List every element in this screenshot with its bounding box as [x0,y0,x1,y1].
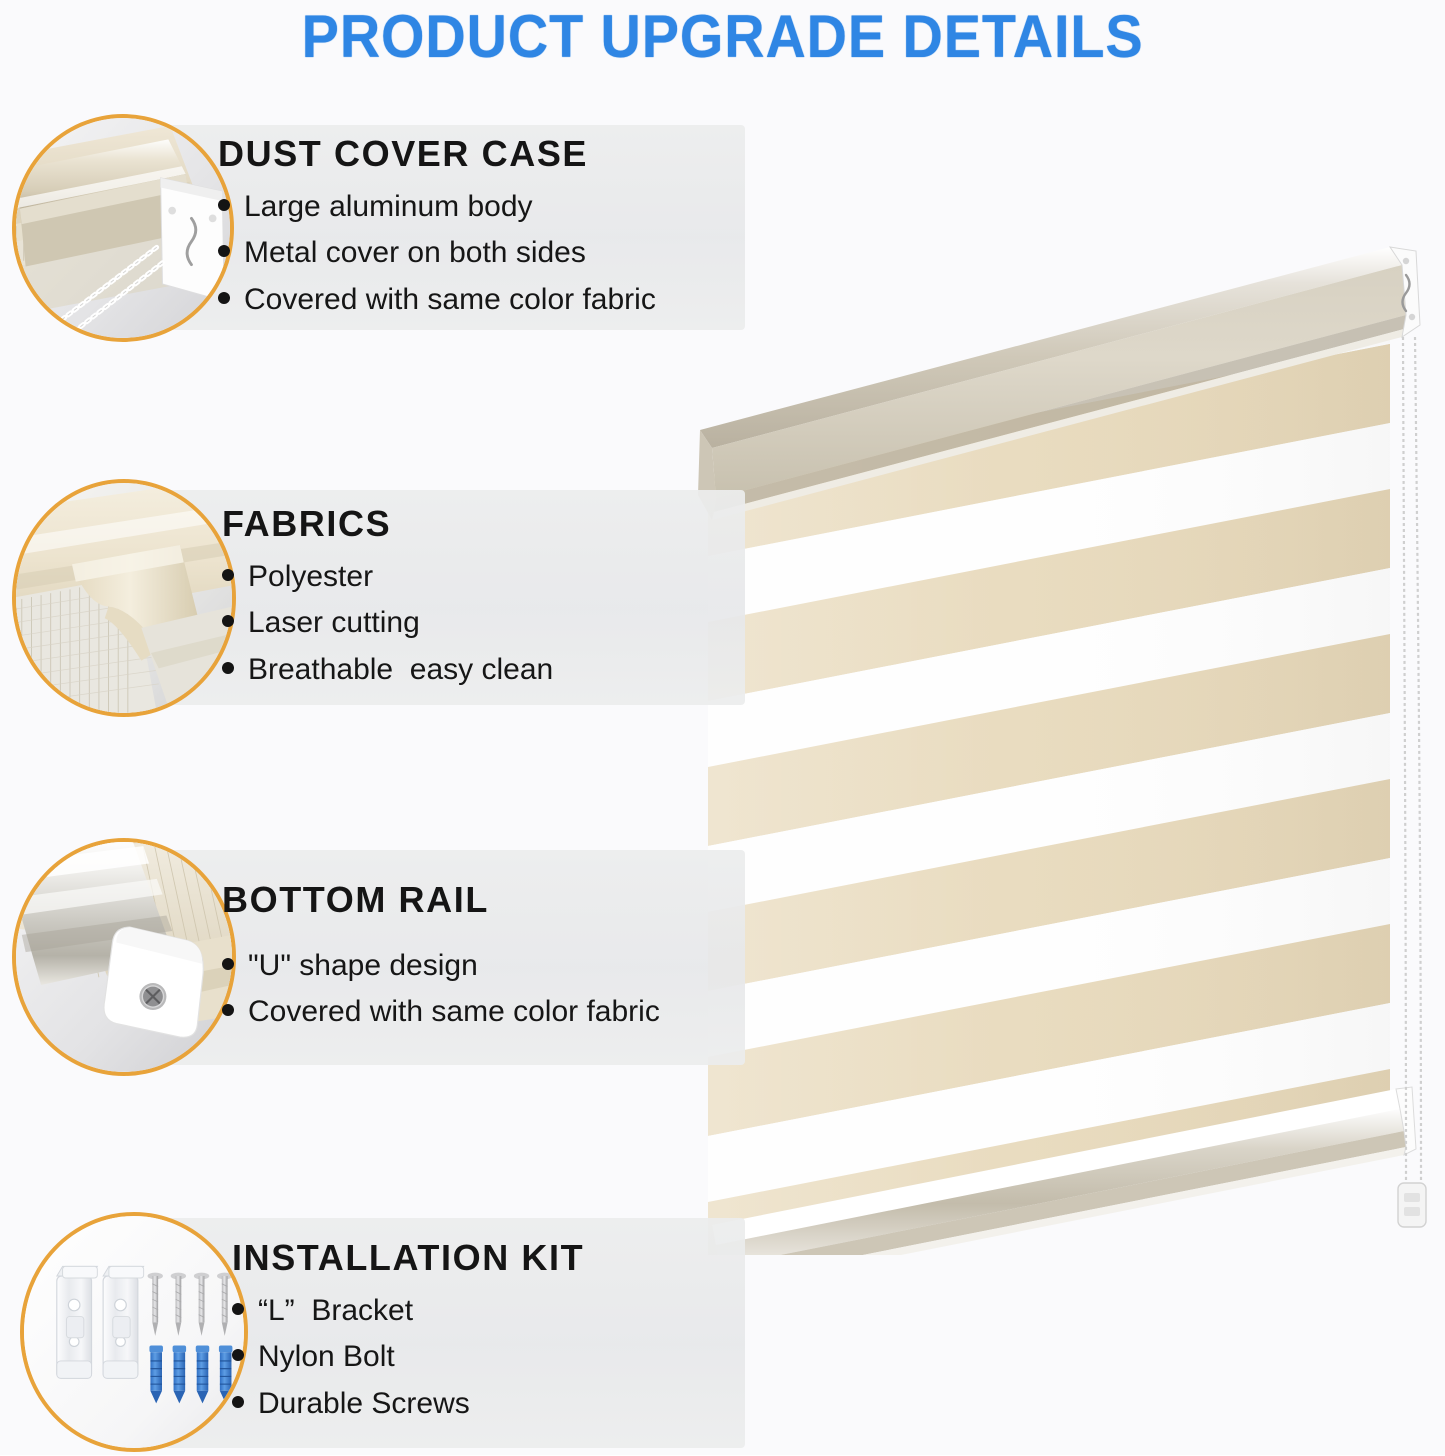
feature-bottom-rail: BOTTOM RAIL "U" shape design Covered wit… [12,838,752,1076]
bullet-item: Covered with same color fabric [218,277,656,324]
bullet-dot [218,292,230,304]
bullet-item: Metal cover on both sides [218,230,656,277]
feature-title: FABRICS [222,503,553,545]
bullet-dot [218,199,230,211]
bead-chain [1403,337,1421,1183]
bullet-text: Covered with same color fabric [248,989,660,1036]
feature-installation-kit: INSTALLATION KIT “L” Bracket Nylon Bolt … [20,1208,760,1456]
chain-tensioner [1398,1183,1426,1227]
bullet-text: Metal cover on both sides [244,230,586,277]
bullet-item: "U" shape design [222,943,660,990]
feature-bullets: "U" shape design Covered with same color… [222,943,660,1036]
feature-bullets: “L” Bracket Nylon Bolt Durable Screws [232,1288,584,1428]
bullet-item: Covered with same color fabric [222,989,660,1036]
bullet-text: Nylon Bolt [258,1334,395,1381]
bullet-text: "U" shape design [248,943,478,990]
bullet-text: Polyester [248,554,373,601]
bullet-text: Durable Screws [258,1381,470,1428]
feature-title: BOTTOM RAIL [222,879,660,921]
bullet-item: Breathable easy clean [222,647,553,694]
bullet-item: Durable Screws [232,1381,584,1428]
bullet-item: Large aluminum body [218,184,656,231]
feature-title: DUST COVER CASE [218,133,656,175]
bullet-text: Laser cutting [248,600,420,647]
feature-bullets: Large aluminum body Metal cover on both … [218,184,656,324]
bullet-dot [222,662,234,674]
page-header: PRODUCT UPGRADE DETAILS [0,0,1445,72]
bullet-item: Laser cutting [222,600,553,647]
bullet-dot [222,569,234,581]
feature-fabrics: FABRICS Polyester Laser cutting Breathab… [12,478,752,718]
bullet-item: “L” Bracket [232,1288,584,1335]
feature-title: INSTALLATION KIT [232,1237,584,1279]
bullet-item: Polyester [222,554,553,601]
bullet-text: Large aluminum body [244,184,533,231]
feature-dust-cover-case: DUST COVER CASE Large aluminum body Meta… [12,113,752,343]
bullet-text: Breathable easy clean [248,647,553,694]
bullet-dot [232,1349,244,1361]
bullet-dot [222,615,234,627]
bullet-dot [218,245,230,257]
feature-bullets: Polyester Laser cutting Breathable easy … [222,554,553,694]
bullet-dot [232,1303,244,1315]
bullet-dot [232,1396,244,1408]
bullet-text: “L” Bracket [258,1288,413,1335]
bullet-text: Covered with same color fabric [244,277,656,324]
product-illustration [690,225,1430,1255]
bullet-dot [222,958,234,970]
bullet-dot [222,1004,234,1016]
bullet-item: Nylon Bolt [232,1334,584,1381]
page-title: PRODUCT UPGRADE DETAILS [302,2,1144,71]
